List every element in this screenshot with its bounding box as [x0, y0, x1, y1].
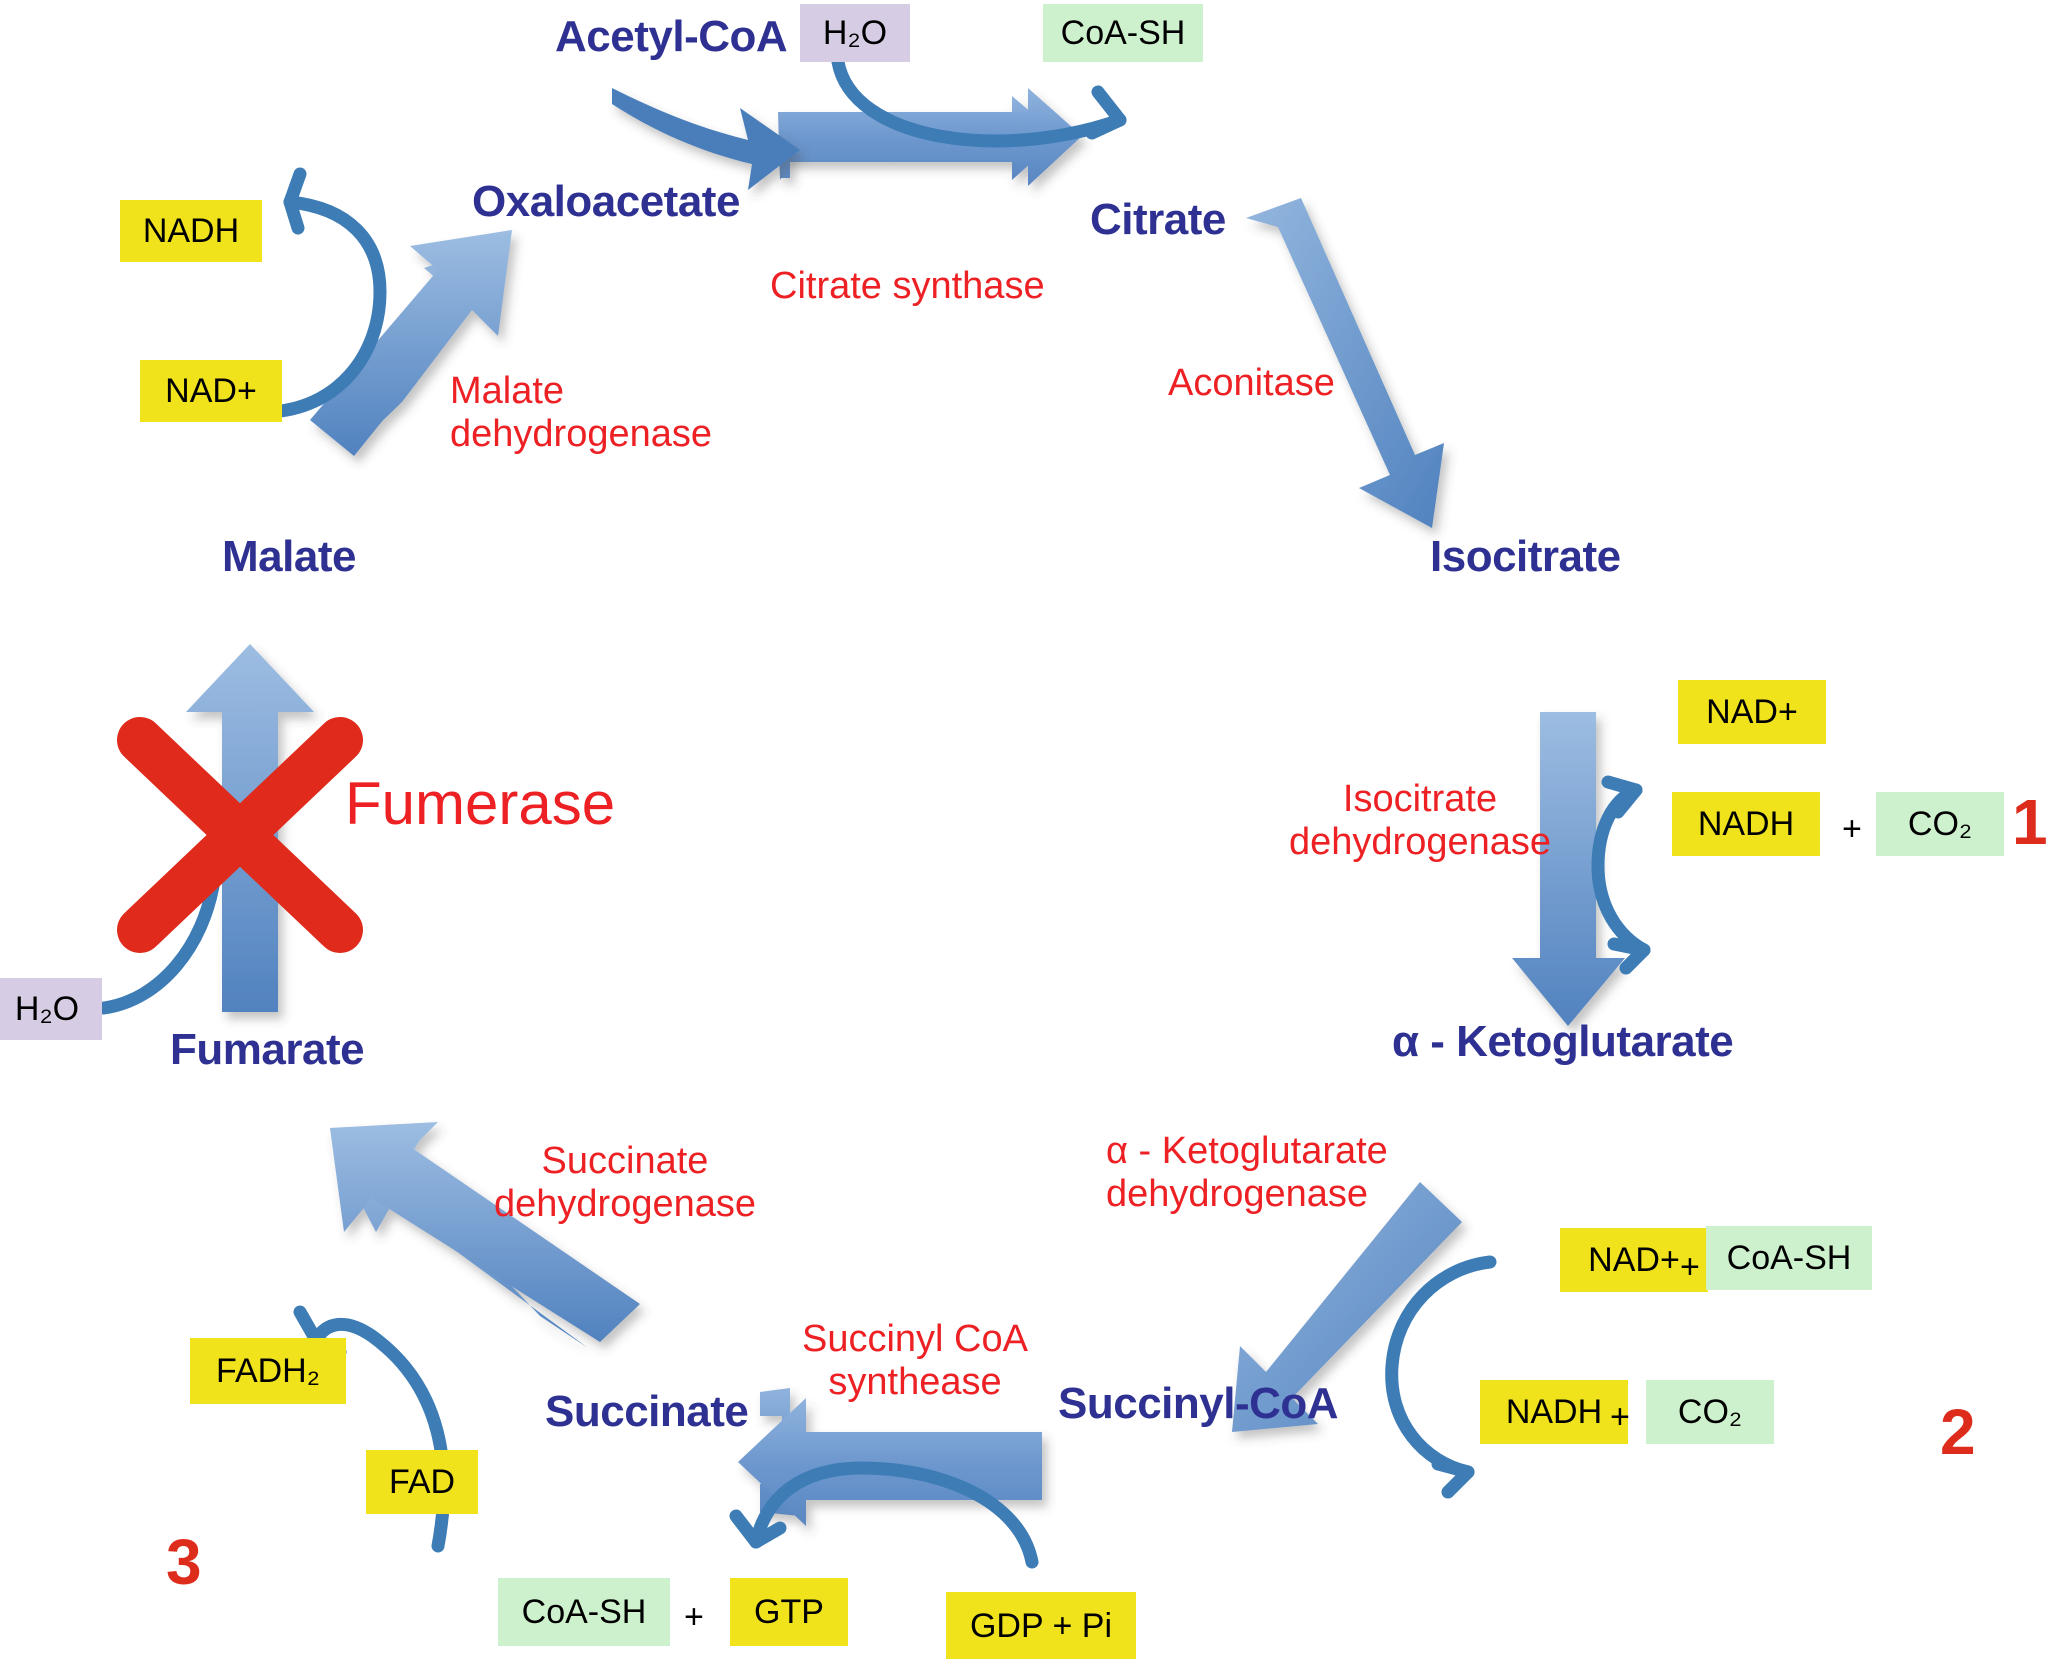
enzyme-citrate-synthase: Citrate synthase [770, 265, 1045, 308]
alpha-kg-enzyme-name: Ketoglutarate [1162, 1130, 1388, 1172]
metabolite-alpha-ketoglutarate: α - Ketoglutarate [1392, 1020, 1733, 1064]
enzyme-alpha-kg-dehydrogenase-line1: α - Ketoglutarate [1106, 1130, 1388, 1173]
cofactor-gdp-pi: GDP + Pi [946, 1592, 1136, 1659]
enzyme-succinate-dehydrogenase-line2: dehydrogenase [460, 1183, 790, 1226]
metabolite-succinyl-coa: Succinyl-CoA [1058, 1382, 1338, 1426]
enzyme-alpha-kg-dehydrogenase: α - Ketoglutarate dehydrogenase [1106, 1130, 1388, 1215]
cofactor-co2-isocitrate: CO₂ [1876, 792, 2004, 856]
step-number-3: 3 [166, 1530, 202, 1594]
tca-cycle-diagram: Acetyl-CoA H₂O CoA-SH Oxaloacetate Citra… [0, 0, 2054, 1659]
succinyl-coa-synthetase-arrow [738, 1388, 1042, 1526]
enzyme-aconitase: Aconitase [1168, 362, 1335, 405]
cofactor-gtp: GTP [730, 1578, 848, 1646]
h2o-fumarase-curve [104, 880, 214, 1008]
nad-nadh-isocitrate-curve [1598, 782, 1644, 968]
enzyme-isocitrate-dehydrogenase: Isocitrate dehydrogenase [1270, 778, 1570, 863]
step-number-2: 2 [1940, 1400, 1976, 1464]
cofactor-nad-isocitrate: NAD+ [1678, 680, 1826, 744]
metabolite-isocitrate: Isocitrate [1430, 535, 1621, 579]
cofactor-fad: FAD [366, 1450, 478, 1514]
enzyme-isocitrate-dehydrogenase-line1: Isocitrate [1270, 778, 1570, 821]
cofactor-h2o-top: H₂O [800, 4, 910, 62]
metabolite-malate: Malate [222, 535, 356, 579]
enzyme-malate-dehydrogenase-line1: Malate [450, 370, 712, 413]
nad-coash-akg-curve [1392, 1262, 1490, 1492]
cofactor-coash-akg: CoA-SH [1706, 1226, 1872, 1290]
enzyme-isocitrate-dehydrogenase-line2: dehydrogenase [1270, 821, 1570, 864]
enzyme-malate-dehydrogenase: Malate dehydrogenase [450, 370, 712, 455]
h2o-to-coash-curve [838, 62, 1120, 141]
cofactor-h2o-left: H₂O [0, 978, 102, 1040]
cofactor-nad-malate: NAD+ [140, 360, 282, 422]
metabolite-acetyl-coa: Acetyl-CoA [555, 15, 787, 59]
enzyme-succinyl-coa-synthetase-line1: Succinyl CoA [770, 1318, 1060, 1361]
metabolite-succinate: Succinate [545, 1390, 748, 1434]
plus-sign-akg-top: + [1680, 1250, 1700, 1284]
fumarase-arrow [186, 644, 314, 1012]
plus-sign-isocitrate: + [1842, 812, 1862, 846]
enzyme-succinate-dehydrogenase-line1: Succinate [460, 1140, 790, 1183]
enzyme-alpha-kg-dehydrogenase-line2: dehydrogenase [1106, 1173, 1388, 1216]
cofactor-co2-akg: CO₂ [1646, 1380, 1774, 1444]
enzyme-malate-dehydrogenase-line2: dehydrogenase [450, 413, 712, 456]
metabolite-fumarate: Fumarate [170, 1028, 364, 1072]
cofactor-coash-top: CoA-SH [1043, 4, 1203, 62]
alpha-ketoglutarate-name: Ketoglutarate [1456, 1017, 1733, 1066]
plus-sign-akg-bottom: + [1610, 1400, 1630, 1434]
alpha-ketoglutarate-prefix: α - [1392, 1017, 1456, 1066]
enzyme-succinate-dehydrogenase: Succinate dehydrogenase [460, 1140, 790, 1225]
citrate-synthase-arrow [778, 88, 1082, 186]
plus-sign-bottom: + [684, 1600, 704, 1634]
step-number-1: 1 [2012, 790, 2048, 854]
metabolite-oxaloacetate: Oxaloacetate [472, 180, 740, 224]
nad-to-nadh-malate-curve [268, 174, 380, 412]
enzyme-succinyl-coa-synthetase: Succinyl CoA synthease [770, 1318, 1060, 1403]
metabolite-citrate: Citrate [1090, 198, 1226, 242]
isocitrate-dehydrogenase-arrow [1512, 712, 1625, 1026]
alpha-kg-enzyme-prefix: α - [1106, 1130, 1162, 1172]
cofactor-nadh-malate: NADH [120, 200, 262, 262]
enzyme-fumerase: Fumerase [345, 770, 615, 837]
enzyme-succinyl-coa-synthetase-line2: synthease [770, 1361, 1060, 1404]
gdp-to-gtp-curve [736, 1468, 1032, 1562]
cofactor-nadh-akg: NADH [1480, 1380, 1628, 1444]
cofactor-fadh2: FADH₂ [190, 1338, 346, 1404]
blocked-cross-icon [140, 740, 340, 930]
acetyl-coa-inflow-arrow [612, 88, 800, 190]
cofactor-coash-scs: CoA-SH [498, 1578, 670, 1646]
cofactor-nadh-isocitrate: NADH [1672, 792, 1820, 856]
